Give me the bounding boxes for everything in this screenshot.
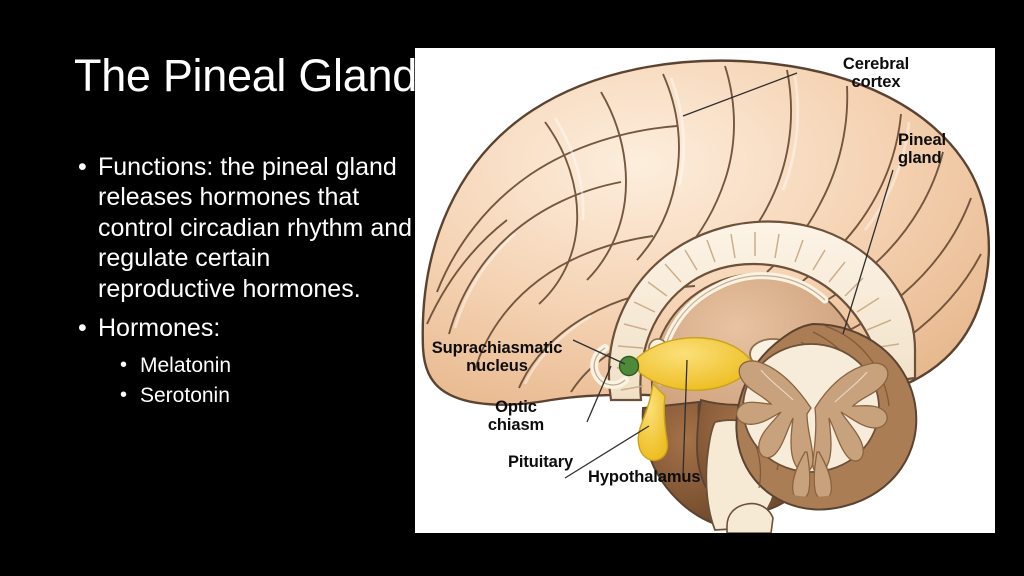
bullet-serotonin: • Serotonin	[74, 382, 414, 410]
label-cerebral-cortex: Cerebral cortex	[811, 55, 941, 92]
label-suprachiasmatic-nucleus: Suprachiasmatic nucleus	[415, 339, 579, 376]
bullet-marker: •	[120, 382, 127, 409]
bullet-hormones: • Hormones:	[74, 313, 414, 343]
bullet-text: Hormones:	[98, 314, 220, 342]
bullet-text: Functions: the pineal gland releases hor…	[98, 153, 412, 303]
bullet-list: • Functions: the pineal gland releases h…	[74, 152, 414, 411]
bullet-text: Melatonin	[140, 354, 231, 377]
bullet-functions: • Functions: the pineal gland releases h…	[74, 152, 414, 304]
suprachiasmatic-nucleus-marker	[620, 357, 639, 376]
brain-illustration	[415, 48, 995, 533]
label-hypothalamus: Hypothalamus	[588, 468, 738, 486]
bullet-melatonin: • Melatonin	[74, 352, 414, 380]
bullet-text: Serotonin	[140, 384, 230, 407]
slide-canvas: The Pineal Gland • Functions: the pineal…	[0, 0, 1024, 576]
bullet-marker: •	[78, 313, 87, 343]
label-pineal-gland: Pineal gland	[898, 131, 994, 168]
brain-diagram-panel: Cerebral cortex Pineal gland Suprachiasm…	[415, 48, 995, 533]
bullet-marker: •	[120, 352, 127, 379]
bullet-marker: •	[78, 152, 87, 182]
label-optic-chiasm: Optic chiasm	[463, 398, 569, 435]
